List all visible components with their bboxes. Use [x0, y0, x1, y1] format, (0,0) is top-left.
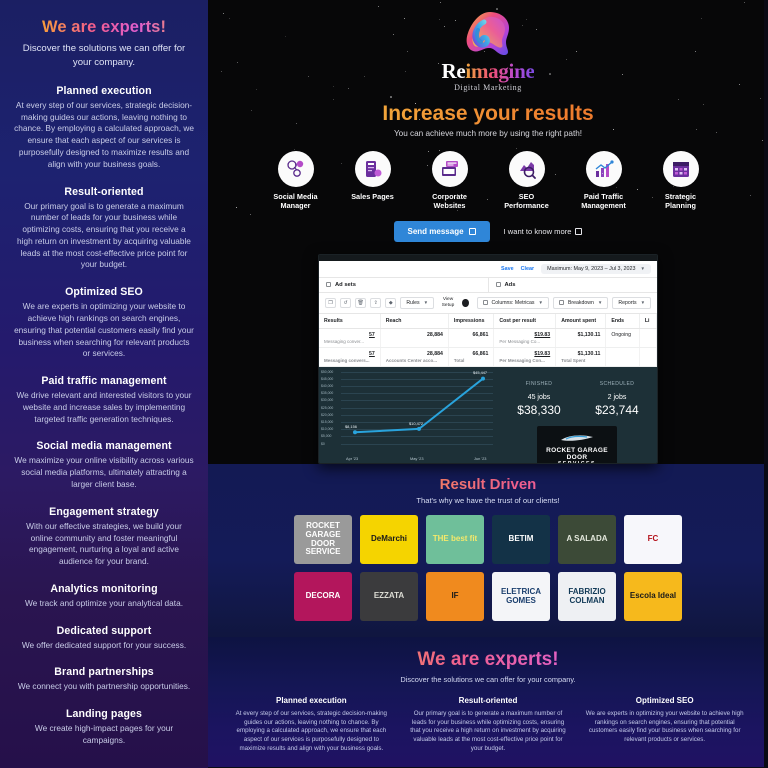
- sidebar-block-heading: Optimized SEO: [12, 286, 196, 298]
- revenue-chart: $50,000$45,000$40,000$35,000$30,000$25,0…: [319, 367, 657, 463]
- client-logo[interactable]: FC: [624, 515, 682, 564]
- stat-finished-label: FINISHED: [503, 381, 575, 387]
- chart-ytick-label: $45,000: [321, 377, 333, 381]
- expert-body: Our primary goal is to generate a maximu…: [407, 710, 570, 753]
- sidebar-block-body: With our effective strategies, we build …: [12, 521, 196, 568]
- stat-scheduled-amount: $23,744: [581, 403, 653, 417]
- right-edge-strip: [764, 0, 768, 768]
- service-item[interactable]: Paid Traffic Management: [575, 151, 633, 211]
- dashboard-tabs: Ad sets Ads: [319, 278, 657, 293]
- stat-scheduled-jobs: 2 jobs: [581, 394, 653, 401]
- tab-ads-label: Ads: [505, 282, 516, 288]
- client-logo-grid: ROCKET GARAGE DOOR SERVICEDeMarchiTHE be…: [208, 515, 768, 621]
- table-cell: 57Messaging convers...: [319, 347, 380, 366]
- table-cell-ends: [606, 347, 640, 366]
- chevron-down-icon: ▼: [539, 300, 543, 305]
- sidebar-block-heading: Engagement strategy: [12, 506, 196, 518]
- chart-point-label: $10,472: [409, 421, 423, 426]
- cell-value: 57: [324, 351, 375, 357]
- stat-finished: FINISHED 45 jobs $38,330: [503, 381, 575, 417]
- service-item[interactable]: SEO Performance: [498, 151, 556, 211]
- chart-gridline: [341, 444, 493, 445]
- experts-title: We are experts!: [220, 649, 756, 671]
- chart-ytick-label: $50,000: [321, 370, 333, 374]
- sidebar-block: Engagement strategyWith our effective st…: [8, 506, 200, 568]
- tag-icon[interactable]: ◆: [385, 298, 396, 308]
- logo-wordmark: Reimagine: [208, 59, 768, 84]
- sidebar-block-body: We create high-impact pages for your cam…: [12, 723, 196, 747]
- result-driven-subtitle: That's why we have the trust of our clie…: [208, 496, 768, 505]
- table-col-header[interactable]: Results: [319, 314, 380, 329]
- service-label: Sales Pages: [344, 192, 402, 201]
- sidebar-block-body: Our primary goal is to generate a maximu…: [12, 201, 196, 272]
- experts-subtitle: Discover the solutions we can offer for …: [220, 675, 756, 684]
- table-cell: 66,861Total: [448, 347, 493, 366]
- main-content: Reimagine Digital Marketing Increase you…: [208, 0, 768, 768]
- revert-icon[interactable]: ↺: [340, 298, 351, 308]
- table-row[interactable]: 57Messaging convers...28,884Accounts Cen…: [319, 347, 657, 366]
- chart-ytick-label: $35,000: [321, 391, 333, 395]
- client-logo[interactable]: DECORA: [294, 572, 352, 621]
- client-logo-text: ROCKET GARAGE DOOR SERVICE: [294, 522, 352, 557]
- sidebar-block-heading: Landing pages: [12, 708, 196, 720]
- columns-icon: [483, 300, 488, 305]
- table-cell: 66,861: [448, 328, 493, 347]
- client-logo[interactable]: IF: [426, 572, 484, 621]
- client-logo[interactable]: THE best fit: [426, 515, 484, 564]
- sidebar-block: Paid traffic managementWe drive relevant…: [8, 375, 200, 425]
- page-root: We are experts! Discover the solutions w…: [0, 0, 768, 768]
- table-cell-ends: Ongoing: [606, 328, 640, 347]
- send-message-button[interactable]: Send message: [394, 221, 490, 242]
- cell-value: 66,861: [454, 351, 488, 357]
- chart-ytick-label: $0: [321, 442, 325, 446]
- view-setup-label: View Setup: [442, 297, 455, 307]
- cell-value: $1,130.11: [561, 351, 600, 357]
- service-label: Corporate Websites: [421, 192, 479, 211]
- calendar-icon: [663, 151, 699, 187]
- client-logo[interactable]: ELETRICA GOMES: [492, 572, 550, 621]
- checkbox-icon: [496, 282, 501, 287]
- date-range-label: Maximum: May 9, 2023 – Jul 3, 2023: [547, 266, 635, 272]
- client-logo-text: BETIM: [509, 535, 534, 544]
- cell-value: $19.83: [499, 332, 550, 338]
- table-cell-extra: [639, 347, 656, 366]
- client-logo-text: FABRIZIO COLMAN: [558, 588, 616, 606]
- chart-point-label: $45,447: [473, 370, 487, 375]
- stat-scheduled: SCHEDULED 2 jobs $23,744: [581, 381, 653, 417]
- experts-columns: Planned executionAt every step of our se…: [220, 696, 756, 753]
- sidebar-block: Social media managementWe maximize your …: [8, 440, 200, 490]
- chart-xtick-label: May '23: [410, 456, 424, 461]
- sidebar-block-heading: Social media management: [12, 440, 196, 452]
- chevron-down-icon: ▼: [641, 300, 645, 305]
- expert-body: We are experts in optimizing your websit…: [583, 710, 746, 745]
- expert-body: At every step of our services, strategic…: [230, 710, 393, 753]
- client-logo[interactable]: DeMarchi: [360, 515, 418, 564]
- client-logo[interactable]: A SALADA: [558, 515, 616, 564]
- table-cell: $1,130.11Total Spent: [556, 347, 606, 366]
- breakdown-label: Breakdown: [568, 300, 594, 306]
- chart-ytick-label: $10,000: [321, 427, 333, 431]
- table-col-header[interactable]: Ends: [606, 314, 640, 329]
- dashboard-toolbar: ❐ ↺ 🗑 ⇪ ◆ Rules ▼ View Setup: [319, 293, 657, 314]
- dashboard-save-link[interactable]: Save: [501, 266, 514, 272]
- chart-ytick-label: $15,000: [321, 420, 333, 424]
- table-cell: $19.83Per Messaging Co...: [494, 328, 556, 347]
- sidebar-block-body: At every step of our services, strategic…: [12, 100, 196, 171]
- cell-subtext: Accounts Center acco...: [386, 358, 443, 363]
- expert-heading: Optimized SEO: [583, 696, 746, 705]
- cta-row: Send message I want to know more: [208, 221, 768, 242]
- services-row: Social Media ManagerSales PagesCorporate…: [208, 151, 768, 211]
- dashboard-screenshot: Save Clear Maximum: May 9, 2023 – Jul 3,…: [318, 254, 658, 464]
- hero-subtitle: You can achieve much more by using the r…: [208, 129, 768, 138]
- client-logo-text: FC: [648, 535, 659, 544]
- chart-xtick-label: Jun '23: [474, 456, 486, 461]
- table-col-header[interactable]: Impressions: [448, 314, 493, 329]
- badge-line-2: SERVICES: [545, 461, 609, 464]
- table-body: 57Messaging conver...28,88466,861$19.83P…: [319, 328, 657, 366]
- chevron-down-icon: ▼: [598, 300, 602, 305]
- reports-label: Reports: [618, 300, 636, 306]
- chart-growth-icon: [586, 151, 622, 187]
- cell-subtext: Total: [454, 358, 488, 363]
- cell-value: $1,130.11: [561, 332, 600, 338]
- client-logo[interactable]: FABRIZIO COLMAN: [558, 572, 616, 621]
- cell-value: 28,884: [386, 351, 443, 357]
- reports-dropdown[interactable]: Reports ▼: [612, 297, 651, 309]
- client-logo-text: Escola Ideal: [630, 592, 676, 601]
- sidebar-block-heading: Result-oriented: [12, 186, 196, 198]
- send-icon: [469, 228, 476, 235]
- service-label: Strategic Planning: [652, 192, 710, 211]
- client-logo-text: DECORA: [306, 592, 341, 601]
- expert-heading: Planned execution: [230, 696, 393, 705]
- sidebar-block-heading: Dedicated support: [12, 625, 196, 637]
- stat-finished-jobs: 45 jobs: [503, 394, 575, 401]
- metrics-table: ResultsReachImpressionsCost per resultAm…: [319, 314, 657, 367]
- export-icon[interactable]: ⇪: [370, 298, 381, 308]
- sidebar-block-body: We offer dedicated support for your succ…: [12, 640, 196, 652]
- duplicate-icon[interactable]: ❐: [325, 298, 336, 308]
- sidebar: We are experts! Discover the solutions w…: [0, 0, 208, 768]
- experts-section: We are experts! Discover the solutions w…: [208, 637, 768, 767]
- chart-xtick-label: Apr '23: [346, 456, 358, 461]
- sidebar-block: Brand partnershipsWe connect you with pa…: [8, 666, 200, 693]
- table-cell-extra: [639, 328, 656, 347]
- logo-tagline: Digital Marketing: [208, 83, 768, 92]
- brand-logo: Reimagine Digital Marketing: [208, 6, 768, 92]
- table-cell: 28,884Accounts Center acco...: [380, 347, 448, 366]
- result-driven-section: Result Driven That's why we have the tru…: [208, 464, 768, 637]
- hero-title: Increase your results: [208, 102, 768, 126]
- trash-icon[interactable]: 🗑: [355, 298, 366, 308]
- service-item[interactable]: Strategic Planning: [652, 151, 710, 211]
- dashboard-clear-link[interactable]: Clear: [521, 266, 535, 272]
- dashboard-body: Save Clear Maximum: May 9, 2023 – Jul 3,…: [319, 261, 657, 367]
- seo-magnifier-icon: [509, 151, 545, 187]
- cell-subtext: Total Spent: [561, 358, 600, 363]
- sidebar-block-heading: Brand partnerships: [12, 666, 196, 678]
- social-media-icon: [278, 151, 314, 187]
- sidebar-block-body: We track and optimize your analytical da…: [12, 598, 196, 610]
- sidebar-block-heading: Paid traffic management: [12, 375, 196, 387]
- expert-column: Optimized SEOWe are experts in optimizin…: [583, 696, 746, 753]
- table-col-header[interactable]: Li: [639, 314, 656, 329]
- expert-column: Planned executionAt every step of our se…: [230, 696, 393, 753]
- sidebar-block: Landing pagesWe create high-impact pages…: [8, 708, 200, 747]
- sidebar-block-body: We connect you with partnership opportun…: [12, 681, 196, 693]
- logo-text-imagine: imagine: [465, 59, 534, 83]
- funnel-icon: [559, 300, 564, 305]
- cell-subtext: Messaging conver...: [324, 339, 375, 344]
- sidebar-block-body: We maximize your online visibility acros…: [12, 455, 196, 490]
- client-logo-text: EZZATA: [374, 592, 404, 601]
- cell-value: 66,861: [454, 332, 488, 338]
- breakdown-dropdown[interactable]: Breakdown ▼: [553, 297, 608, 309]
- tab-ad-sets-label: Ad sets: [335, 282, 356, 288]
- sidebar-block: Result-orientedOur primary goal is to ge…: [8, 186, 200, 272]
- client-logo[interactable]: ROCKET GARAGE DOOR SERVICE: [294, 515, 352, 564]
- columns-label: Columns: Metricas: [492, 300, 535, 306]
- sidebar-block: Planned executionAt every step of our se…: [8, 85, 200, 171]
- sidebar-block-heading: Planned execution: [12, 85, 196, 97]
- sidebar-block: Analytics monitoringWe track and optimiz…: [8, 583, 200, 610]
- know-more-link[interactable]: I want to know more: [504, 227, 583, 236]
- chevron-down-icon: ▼: [424, 300, 428, 305]
- chart-ytick-label: $20,000: [321, 413, 333, 417]
- stat-finished-amount: $38,330: [503, 403, 575, 417]
- client-logo-text: DeMarchi: [371, 535, 407, 544]
- cell-value: $19.83: [499, 351, 550, 357]
- rules-label: Rules: [406, 300, 419, 306]
- stat-scheduled-label: SCHEDULED: [581, 381, 653, 387]
- tab-ad-sets[interactable]: Ad sets: [319, 278, 488, 292]
- service-item[interactable]: Sales Pages: [344, 151, 402, 211]
- know-more-label: I want to know more: [504, 227, 572, 236]
- table-row[interactable]: 57Messaging conver...28,88466,861$19.83P…: [319, 328, 657, 347]
- cell-subtext: Messaging convers...: [324, 358, 375, 363]
- chart-plot-area: $50,000$45,000$40,000$35,000$30,000$25,0…: [319, 367, 497, 463]
- external-link-icon: [575, 228, 582, 235]
- website-icon: [432, 151, 468, 187]
- client-logo[interactable]: BETIM: [492, 515, 550, 564]
- table-cell: 57Messaging conver...: [319, 328, 380, 347]
- reimagine-logo-icon: [460, 8, 516, 58]
- sidebar-block: Optimized SEOWe are experts in optimizin…: [8, 286, 200, 360]
- expert-heading: Result-oriented: [407, 696, 570, 705]
- sidebar-block-body: We drive relevant and interested visitor…: [12, 390, 196, 425]
- sidebar-block-heading: Analytics monitoring: [12, 583, 196, 595]
- service-label: SEO Performance: [498, 192, 556, 211]
- table-header-row: ResultsReachImpressionsCost per resultAm…: [319, 314, 657, 329]
- client-logo[interactable]: EZZATA: [360, 572, 418, 621]
- service-item[interactable]: Corporate Websites: [421, 151, 479, 211]
- service-item[interactable]: Social Media Manager: [267, 151, 325, 211]
- send-message-label: Send message: [408, 227, 464, 236]
- badge-line-1: ROCKET GARAGE DOOR: [545, 447, 609, 461]
- table-cell: $1,130.11: [556, 328, 606, 347]
- expert-column: Result-orientedOur primary goal is to ge…: [407, 696, 570, 753]
- result-driven-title: Result Driven: [208, 476, 768, 493]
- client-logo-text: ELETRICA GOMES: [492, 588, 550, 606]
- chevron-down-icon: ▼: [641, 266, 645, 271]
- sidebar-subtitle: Discover the solutions we can offer for …: [8, 42, 200, 70]
- cell-value: 57: [324, 332, 375, 338]
- grid-icon: [326, 282, 331, 287]
- sidebar-title: We are experts!: [8, 18, 200, 37]
- view-setup-button[interactable]: View Setup: [438, 297, 458, 308]
- rules-dropdown[interactable]: Rules ▼: [400, 297, 434, 309]
- chart-ytick-label: $5,000: [321, 434, 331, 438]
- chart-line: [341, 372, 497, 444]
- hero-section: Reimagine Digital Marketing Increase you…: [208, 0, 768, 464]
- cell-subtext: Per Messaging Co...: [499, 339, 550, 344]
- chart-ytick-label: $40,000: [321, 384, 333, 388]
- tab-ads[interactable]: Ads: [488, 278, 658, 292]
- table-col-header[interactable]: Reach: [380, 314, 448, 329]
- cell-value: 28,884: [386, 332, 443, 338]
- client-logo-text: THE best fit: [433, 535, 477, 544]
- chart-ytick-label: $25,000: [321, 406, 333, 410]
- table-col-header[interactable]: Cost per result: [494, 314, 556, 329]
- chart-point-label: $8,156: [345, 424, 357, 429]
- rocket-icon: [560, 434, 594, 442]
- chart-ytick-label: $30,000: [321, 398, 333, 402]
- client-logo[interactable]: Escola Ideal: [624, 572, 682, 621]
- sidebar-block: Dedicated supportWe offer dedicated supp…: [8, 625, 200, 652]
- more-options-icon[interactable]: [462, 299, 469, 307]
- columns-dropdown[interactable]: Columns: Metricas ▼: [477, 297, 549, 309]
- job-stats-panel: FINISHED 45 jobs $38,330 SCHEDULED 2 job…: [497, 367, 657, 463]
- dashboard-daterow: Save Clear Maximum: May 9, 2023 – Jul 3,…: [319, 261, 657, 278]
- table-cell: $19.83Per Messaging Con...: [494, 347, 556, 366]
- table-cell: 28,884: [380, 328, 448, 347]
- cell-subtext: Per Messaging Con...: [499, 358, 550, 363]
- logo-text-re: Re: [442, 59, 466, 83]
- rocket-garage-badge: ROCKET GARAGE DOOR SERVICES: [537, 426, 617, 464]
- sidebar-block-body: We are experts in optimizing your websit…: [12, 301, 196, 360]
- sales-page-icon: [355, 151, 391, 187]
- service-label: Paid Traffic Management: [575, 192, 633, 211]
- client-logo-text: A SALADA: [566, 535, 607, 544]
- date-range-picker[interactable]: Maximum: May 9, 2023 – Jul 3, 2023 ▼: [541, 264, 651, 274]
- table-col-header[interactable]: Amount spent: [556, 314, 606, 329]
- client-logo-text: IF: [451, 592, 458, 601]
- service-label: Social Media Manager: [267, 192, 325, 211]
